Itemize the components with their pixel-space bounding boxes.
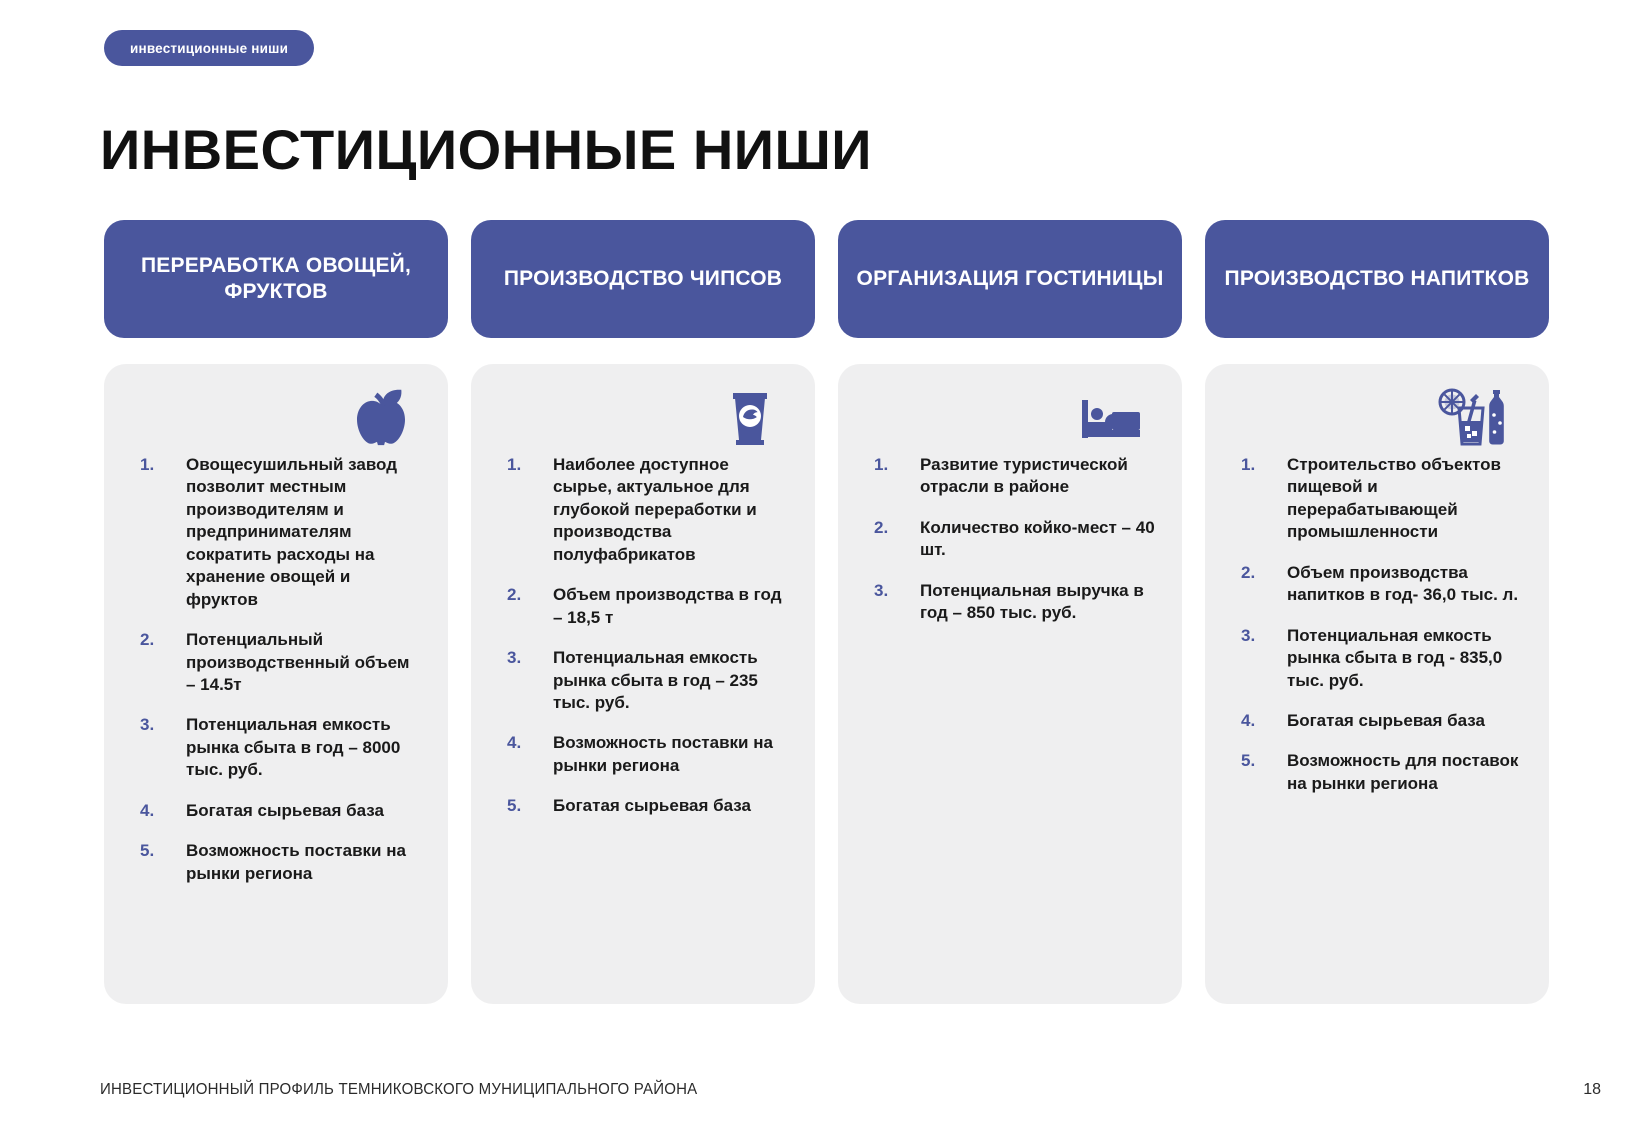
list-item-text: Потенциальный производственный объем – 1… [186,630,409,694]
list-item-number: 2. [874,517,888,539]
list-item: 4. Богатая сырьевая база [134,800,422,822]
list-item-text: Возможность для поставок на рынки регион… [1287,751,1518,792]
list-item-text: Объем производства напитков в год- 36,0 … [1287,563,1518,604]
column-body: 1. Овощесушильный завод позволит местным… [104,364,448,1004]
column-heading[interactable]: ОРГАНИЗАЦИЯ ГОСТИНИЦЫ [838,220,1182,338]
list-item: 2. Объем производства в год – 18,5 т [501,584,789,629]
column-icon-row [864,382,1156,454]
list-item-number: 4. [1241,710,1255,732]
list-item: 3. Потенциальная емкость рынка сбыта в г… [501,647,789,714]
list-item-number: 3. [140,714,154,736]
kicker-badge: инвестиционные ниши [104,30,314,66]
bed-icon [1080,396,1142,440]
column-icon-row [1231,382,1523,454]
list-item: 1. Наиболее доступное сырье, актуальное … [501,454,789,566]
list-item: 1. Развитие туристической отрасли в райо… [868,454,1156,499]
niche-column-vegetables: ПЕРЕРАБОТКА ОВОЩЕЙ, ФРУКТОВ 1. Овощесуши… [104,220,448,1004]
list-item-text: Количество койко-мест – 40 шт. [920,518,1155,559]
list-item-text: Потенциальная емкость рынка сбыта в год … [186,715,400,779]
list-item-text: Возможность поставки на рынки региона [553,733,773,774]
list-item-number: 4. [140,800,154,822]
niche-list: 1. Строительство объектов пищевой и пере… [1231,454,1523,795]
list-item-number: 3. [507,647,521,669]
niche-list: 1. Развитие туристической отрасли в райо… [864,454,1156,625]
list-item: 5. Возможность поставки на рынки региона [134,840,422,885]
list-item-number: 1. [1241,454,1255,476]
niche-columns: ПЕРЕРАБОТКА ОВОЩЕЙ, ФРУКТОВ 1. Овощесуши… [104,220,1549,1004]
apple-icon [354,389,408,447]
column-heading-label: ПРОИЗВОДСТВО НАПИТКОВ [1225,266,1530,292]
list-item-number: 4. [507,732,521,754]
list-item-number: 5. [507,795,521,817]
list-item-text: Потенциальная выручка в год – 850 тыс. р… [920,581,1144,622]
column-icon-row [497,382,789,454]
list-item-number: 3. [1241,625,1255,647]
list-item: 4. Богатая сырьевая база [1235,710,1523,732]
column-body: 1. Строительство объектов пищевой и пере… [1205,364,1549,1004]
column-heading[interactable]: ПЕРЕРАБОТКА ОВОЩЕЙ, ФРУКТОВ [104,220,448,338]
list-item-text: Богатая сырьевая база [1287,711,1485,730]
list-item-number: 1. [140,454,154,476]
drinks-icon [1437,388,1509,448]
list-item-number: 5. [1241,750,1255,772]
list-item-number: 2. [140,629,154,651]
footer-title: ИНВЕСТИЦИОННЫЙ ПРОФИЛЬ ТЕМНИКОВСКОГО МУН… [100,1081,697,1099]
chips-bag-icon [725,389,775,447]
column-heading[interactable]: ПРОИЗВОДСТВО НАПИТКОВ [1205,220,1549,338]
page-number: 18 [1583,1081,1601,1099]
list-item-text: Овощесушильный завод позволит местным пр… [186,455,397,609]
list-item-number: 1. [874,454,888,476]
page-title: ИНВЕСТИЦИОННЫЕ НИШИ [100,118,872,182]
column-heading-label: ПРОИЗВОДСТВО ЧИПСОВ [504,266,782,292]
niche-column-hotel: ОРГАНИЗАЦИЯ ГОСТИНИЦЫ 1. [838,220,1182,1004]
list-item: 2. Объем производства напитков в год- 36… [1235,562,1523,607]
list-item-text: Строительство объектов пищевой и перераб… [1287,455,1501,541]
list-item-number: 2. [1241,562,1255,584]
list-item-text: Развитие туристической отрасли в районе [920,455,1128,496]
niche-list: 1. Наиболее доступное сырье, актуальное … [497,454,789,818]
column-heading-label: ПЕРЕРАБОТКА ОВОЩЕЙ, ФРУКТОВ [122,253,430,306]
list-item: 5. Возможность для поставок на рынки рег… [1235,750,1523,795]
list-item-number: 1. [507,454,521,476]
niche-column-chips: ПРОИЗВОДСТВО ЧИПСОВ 1. Наиболее дос [471,220,815,1004]
column-body: 1. Наиболее доступное сырье, актуальное … [471,364,815,1004]
list-item-text: Потенциальная емкость рынка сбыта в год … [553,648,758,712]
list-item: 1. Овощесушильный завод позволит местным… [134,454,422,611]
column-icon-row [130,382,422,454]
list-item: 1. Строительство объектов пищевой и пере… [1235,454,1523,544]
list-item-number: 2. [507,584,521,606]
list-item: 4. Возможность поставки на рынки региона [501,732,789,777]
list-item: 3. Потенциальная выручка в год – 850 тыс… [868,580,1156,625]
list-item-number: 3. [874,580,888,602]
list-item-text: Богатая сырьевая база [553,796,751,815]
niche-list: 1. Овощесушильный завод позволит местным… [130,454,422,885]
column-heading-label: ОРГАНИЗАЦИЯ ГОСТИНИЦЫ [857,266,1164,292]
list-item: 2. Количество койко-мест – 40 шт. [868,517,1156,562]
list-item-text: Богатая сырьевая база [186,801,384,820]
list-item-text: Объем производства в год – 18,5 т [553,585,781,626]
list-item-number: 5. [140,840,154,862]
list-item: 2. Потенциальный производственный объем … [134,629,422,696]
list-item: 5. Богатая сырьевая база [501,795,789,817]
kicker-label: инвестиционные ниши [130,41,288,56]
niche-column-drinks: ПРОИЗВОДСТВО НАПИТКОВ [1205,220,1549,1004]
list-item-text: Возможность поставки на рынки региона [186,841,406,882]
list-item-text: Потенциальная емкость рынка сбыта в год … [1287,626,1502,690]
list-item-text: Наиболее доступное сырье, актуальное для… [553,455,757,564]
column-body: 1. Развитие туристической отрасли в райо… [838,364,1182,1004]
column-heading[interactable]: ПРОИЗВОДСТВО ЧИПСОВ [471,220,815,338]
list-item: 3. Потенциальная емкость рынка сбыта в г… [1235,625,1523,692]
list-item: 3. Потенциальная емкость рынка сбыта в г… [134,714,422,781]
